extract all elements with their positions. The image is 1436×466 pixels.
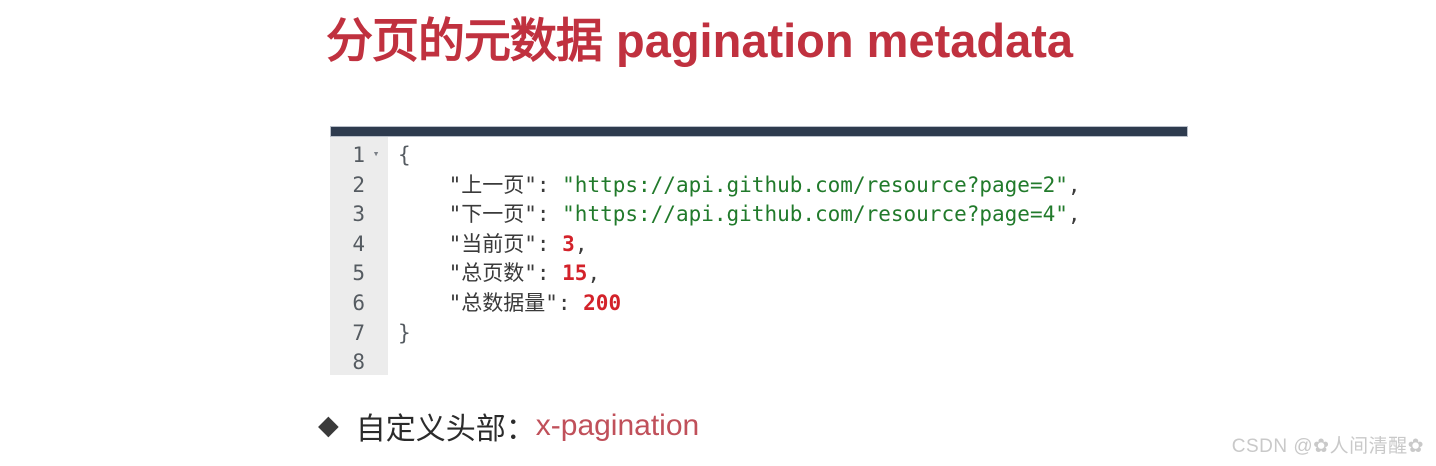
page-title: 分页的元数据pagination metadata — [326, 14, 1073, 68]
code-line[interactable]: "上一页": "https://api.github.com/resource?… — [398, 171, 1188, 201]
code-content[interactable]: { "上一页": "https://api.github.com/resourc… — [388, 137, 1188, 375]
code-token-punct: , — [587, 261, 600, 285]
page-title-english: pagination metadata — [616, 14, 1073, 67]
line-number: 4 — [330, 230, 388, 260]
diamond-bullet-icon: ◆ — [318, 412, 339, 439]
line-number-value: 5 — [352, 259, 365, 289]
line-number-value: 1 — [352, 141, 365, 171]
code-token-brace: { — [398, 143, 411, 167]
code-token-key: "当前页": — [398, 232, 562, 256]
code-token-punct: , — [1068, 173, 1081, 197]
code-line[interactable]: } — [398, 319, 1188, 349]
code-fold-toggle-icon[interactable]: ▾ — [368, 139, 384, 169]
code-token-key: "下一页": — [398, 202, 562, 226]
line-number: 2 — [330, 171, 388, 201]
code-token-num: 200 — [583, 291, 621, 315]
line-number-value: 2 — [352, 171, 365, 201]
code-line[interactable]: { — [398, 141, 1188, 171]
bullet-value: x-pagination — [536, 409, 699, 443]
code-line[interactable]: "当前页": 3, — [398, 230, 1188, 260]
line-number: 5 — [330, 259, 388, 289]
code-line[interactable]: "下一页": "https://api.github.com/resource?… — [398, 200, 1188, 230]
line-number-value: 6 — [352, 289, 365, 319]
code-token-punct: , — [575, 232, 588, 256]
code-token-brace: } — [398, 321, 411, 345]
csdn-watermark: CSDN @✿人间清醒✿ — [1232, 431, 1424, 458]
code-token-str: "https://api.github.com/resource?page=4" — [562, 202, 1068, 226]
page-title-chinese: 分页的元数据 — [326, 14, 602, 67]
code-token-num: 3 — [562, 232, 575, 256]
line-number: 8 — [330, 348, 388, 375]
line-number: 3 — [330, 200, 388, 230]
line-number-gutter: 1▾2345678 — [330, 137, 388, 375]
code-editor[interactable]: 1▾2345678 { "上一页": "https://api.github.c… — [330, 137, 1188, 375]
code-token-punct: , — [1068, 202, 1081, 226]
code-token-str: "https://api.github.com/resource?page=2" — [562, 173, 1068, 197]
code-token-key: "总页数": — [398, 261, 562, 285]
line-number: 6 — [330, 289, 388, 319]
line-number: 1▾ — [330, 141, 388, 171]
line-number-value: 4 — [352, 230, 365, 260]
code-line[interactable]: "总数据量": 200 — [398, 289, 1188, 319]
line-number-value: 7 — [352, 319, 365, 349]
code-block-titlebar — [330, 126, 1188, 137]
code-token-key: "总数据量": — [398, 291, 583, 315]
bullet-item-custom-header: ◆ 自定义头部： x-pagination — [318, 404, 699, 448]
line-number-value: 8 — [352, 348, 365, 375]
code-token-key: "上一页": — [398, 173, 562, 197]
code-line[interactable] — [398, 348, 1188, 375]
line-number: 7 — [330, 319, 388, 349]
code-token-num: 15 — [562, 261, 587, 285]
line-number-value: 3 — [352, 200, 365, 230]
code-line[interactable]: "总页数": 15, — [398, 259, 1188, 289]
code-block[interactable]: 1▾2345678 { "上一页": "https://api.github.c… — [330, 126, 1188, 375]
bullet-label: 自定义头部： — [356, 404, 536, 448]
